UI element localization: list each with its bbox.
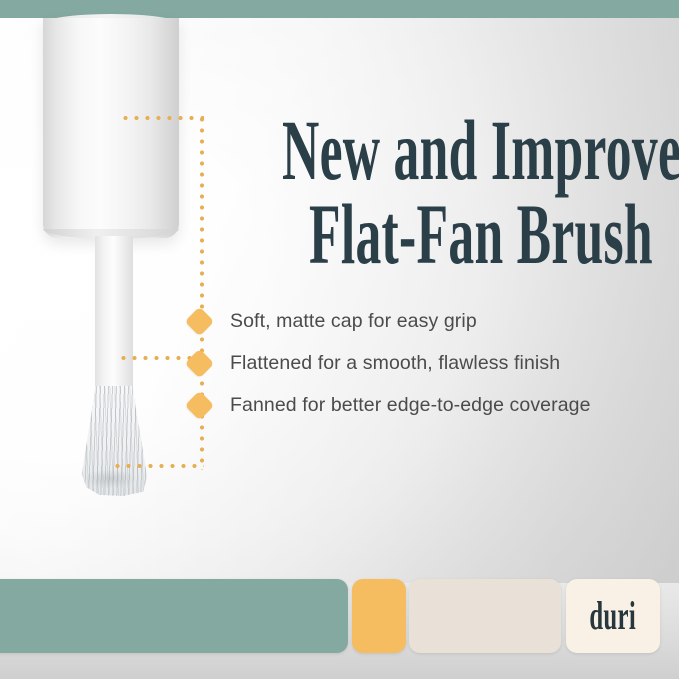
- dotted-leader-bristles: [112, 463, 204, 469]
- diamond-bullet-icon: [185, 390, 215, 420]
- feature-text: Fanned for better edge-to-edge coverage: [230, 394, 591, 417]
- footer-segment-beige: [409, 579, 561, 653]
- headline-line-1: New and Improved: [282, 108, 510, 192]
- page-title: New and Improved Flat-Fan Brush: [282, 108, 662, 277]
- headline-line-2: Flat-Fan Brush: [309, 192, 537, 276]
- list-item: Fanned for better edge-to-edge coverage: [189, 384, 669, 426]
- dotted-leader-cap: [120, 115, 204, 121]
- footer-segment-logo: duri: [566, 579, 660, 653]
- footer-segment-green: [0, 579, 348, 653]
- product-infographic: New and Improved Flat-Fan Brush Soft, ma…: [0, 0, 679, 679]
- nail-polish-cap: [43, 18, 179, 238]
- bristle-shadow: [72, 470, 148, 492]
- brush-handle: [95, 236, 133, 388]
- feature-list: Soft, matte cap for easy grip Flattened …: [189, 300, 669, 426]
- feature-text: Flattened for a smooth, flawless finish: [230, 352, 560, 375]
- diamond-bullet-icon: [185, 348, 215, 378]
- footer-segment-amber: [352, 579, 406, 653]
- list-item: Flattened for a smooth, flawless finish: [189, 342, 669, 384]
- list-item: Soft, matte cap for easy grip: [189, 300, 669, 342]
- feature-text: Soft, matte cap for easy grip: [230, 310, 477, 333]
- brand-logo: duri: [590, 596, 637, 636]
- diamond-bullet-icon: [185, 306, 215, 336]
